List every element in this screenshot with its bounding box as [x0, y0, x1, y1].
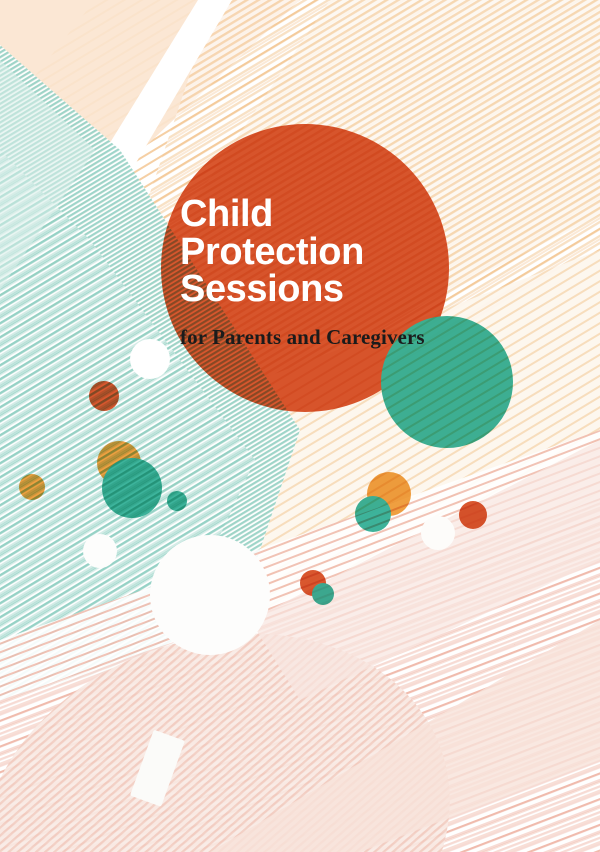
title-line-1: Child Protection [180, 193, 364, 273]
cover-page: Child Protection Sessions for Parents an… [0, 0, 600, 852]
white-circle-top [130, 339, 170, 379]
title-block: Child Protection Sessions for Parents an… [180, 196, 440, 348]
background-artwork [0, 0, 600, 852]
title-line-2: Sessions [180, 268, 344, 310]
terracotta-right-circle [459, 501, 487, 529]
white-circle-small [421, 516, 455, 550]
white-circle-mid [83, 534, 117, 568]
page-title: Child Protection Sessions [180, 196, 440, 309]
white-circle-large [150, 535, 270, 655]
teal-lower-circle [312, 583, 334, 605]
page-subtitle: for Parents and Caregivers [180, 309, 440, 348]
teal-dot-circle [167, 491, 187, 511]
amber-small-circle [19, 474, 45, 500]
teal-mid-circle [102, 458, 162, 518]
terracotta-small-circle [89, 381, 119, 411]
teal-right-circle [355, 496, 391, 532]
